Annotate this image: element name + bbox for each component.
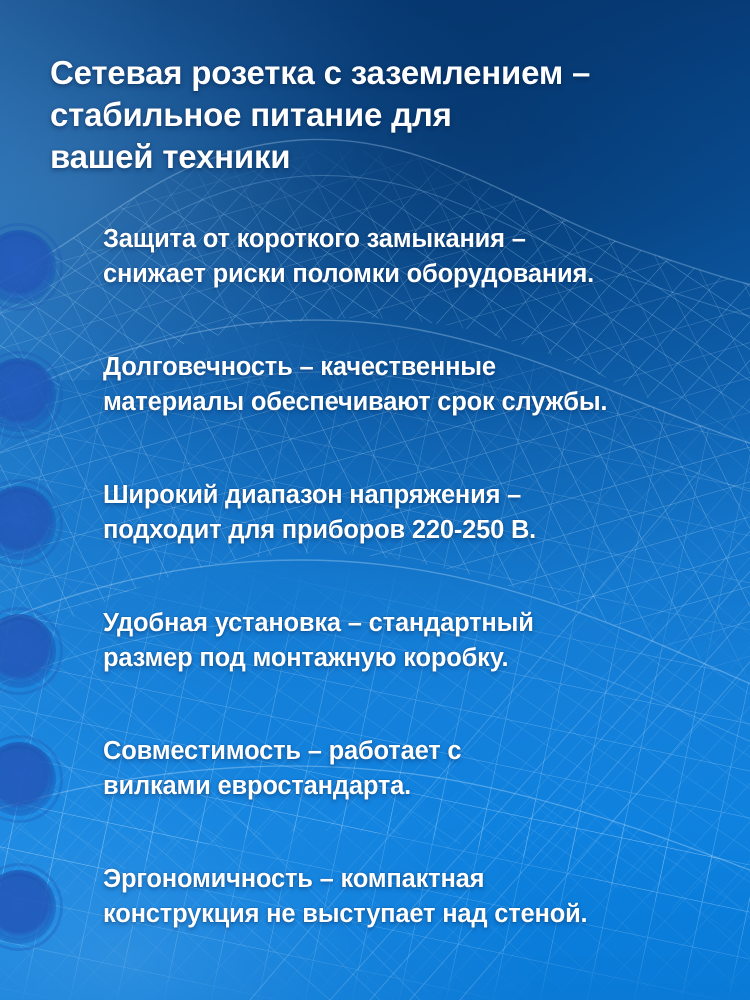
filled-circle-bullet-icon	[0, 230, 56, 304]
list-item: Эргономичность – компактная конструкция …	[0, 862, 750, 990]
filled-circle-bullet-icon	[0, 870, 56, 944]
filled-circle-bullet-icon	[0, 742, 56, 816]
list-item: Защита от короткого замыкания – снижает …	[0, 222, 750, 350]
poster-content: Сетевая розетка с заземлением – стабильн…	[0, 0, 750, 1000]
poster-canvas: Сетевая розетка с заземлением – стабильн…	[0, 0, 750, 1000]
feature-list: Защита от короткого замыкания – снижает …	[0, 222, 750, 990]
list-item-text: Широкий диапазон напряжения – подходит д…	[103, 478, 728, 547]
filled-circle-bullet-icon	[0, 358, 56, 432]
list-item: Удобная установка – стандартный размер п…	[0, 606, 750, 734]
filled-circle-bullet-icon	[0, 486, 56, 560]
list-item: Широкий диапазон напряжения – подходит д…	[0, 478, 750, 606]
list-item-text: Эргономичность – компактная конструкция …	[103, 862, 728, 931]
list-item: Совместимость – работает с вилками еврос…	[0, 734, 750, 862]
list-item: Долговечность – качественные материалы о…	[0, 350, 750, 478]
list-item-text: Совместимость – работает с вилками еврос…	[103, 734, 728, 803]
filled-circle-bullet-icon	[0, 614, 56, 688]
list-item-text: Защита от короткого замыкания – снижает …	[103, 222, 728, 291]
list-item-text: Долговечность – качественные материалы о…	[103, 350, 728, 419]
page-title: Сетевая розетка с заземлением – стабильн…	[50, 52, 720, 178]
list-item-text: Удобная установка – стандартный размер п…	[103, 606, 728, 675]
